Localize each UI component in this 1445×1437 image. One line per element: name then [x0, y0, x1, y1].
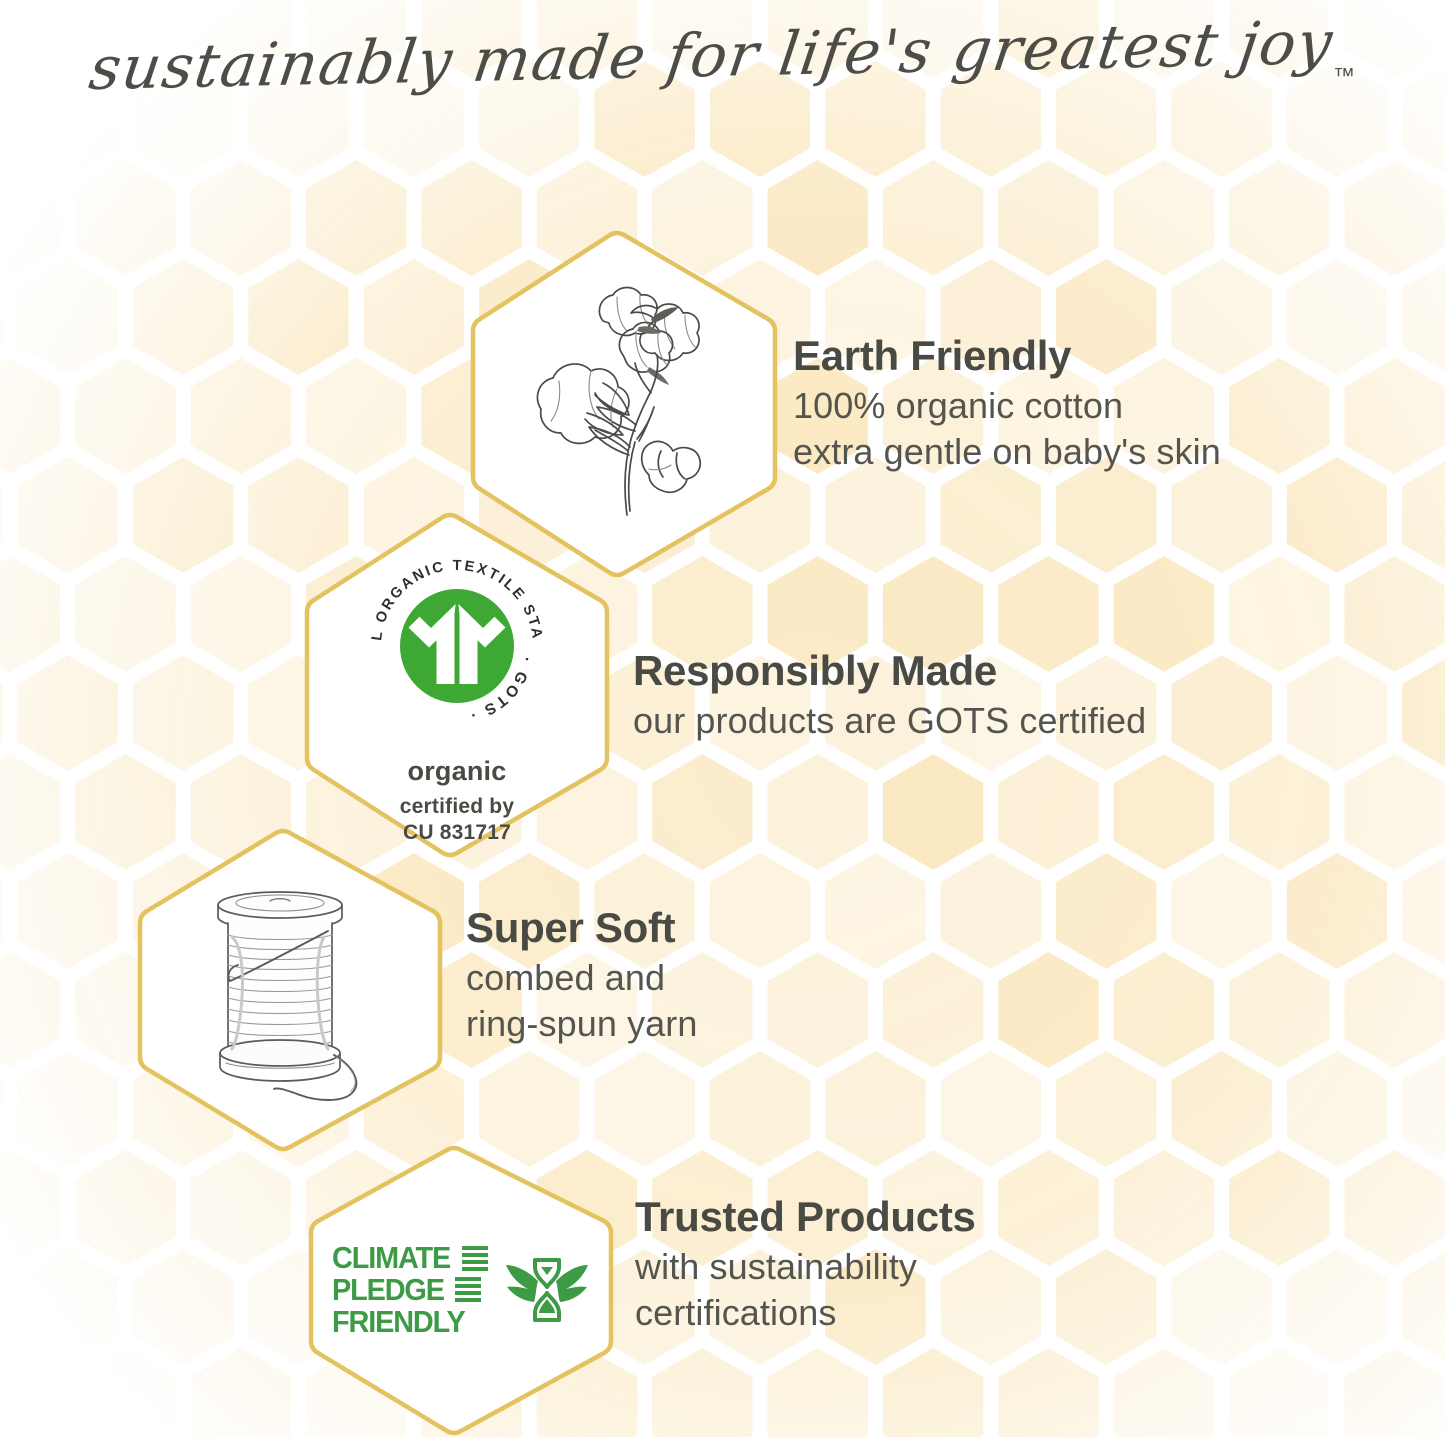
infographic-canvas: sustainably made for life's greatest joy… — [0, 0, 1445, 1437]
page-headline: sustainably made for life's greatest joy… — [0, 34, 1445, 104]
feature-title: Super Soft — [466, 905, 698, 951]
feature-hex-trusted-products: CLIMATE PLEDGE FRIENDLY — [305, 1145, 617, 1435]
cpf-bars-icon — [455, 1277, 481, 1303]
feature-title: Trusted Products — [635, 1194, 976, 1240]
feature-text-earth-friendly: Earth Friendly 100% organic cotton extra… — [793, 333, 1221, 475]
cpf-bars-icon — [462, 1245, 488, 1271]
cpf-line-2: PLEDGE — [332, 1274, 444, 1306]
feature-line: combed and — [466, 955, 698, 1001]
gots-organic-label: organic — [408, 756, 507, 787]
winged-hourglass-icon — [504, 1251, 590, 1329]
feature-line: 100% organic cotton — [793, 383, 1221, 429]
feature-hex-responsibly-made: GLOBAL ORGANIC TEXTILE STANDARD · GOTS ·… — [302, 512, 612, 858]
feature-line: certifications — [635, 1290, 976, 1336]
feature-text-trusted-products: Trusted Products with sustainability cer… — [635, 1194, 976, 1336]
climate-pledge-friendly-icon: CLIMATE PLEDGE FRIENDLY — [332, 1242, 589, 1338]
cotton-branch-sketch-icon — [499, 279, 749, 529]
feature-line: ring-spun yarn — [466, 1001, 698, 1047]
feature-line: our products are GOTS certified — [633, 698, 1146, 744]
cpf-line-1: CLIMATE — [332, 1242, 450, 1274]
thread-spool-sketch-icon — [170, 877, 410, 1103]
feature-title: Responsibly Made — [633, 648, 1146, 694]
feature-text-responsibly-made: Responsibly Made our products are GOTS c… — [633, 648, 1146, 744]
feature-text-super-soft: Super Soft combed and ring-spun yarn — [466, 905, 698, 1047]
headline-text: sustainably made for life's greatest joy — [85, 8, 1338, 104]
cpf-line-3: FRIENDLY — [332, 1306, 465, 1338]
gots-certified-by: certified by — [400, 794, 514, 820]
feature-title: Earth Friendly — [793, 333, 1221, 379]
feature-line: with sustainability — [635, 1244, 976, 1290]
trademark-symbol: ™ — [1333, 63, 1355, 89]
feature-hex-super-soft — [135, 828, 445, 1152]
feature-line: extra gentle on baby's skin — [793, 429, 1221, 475]
gots-certification-icon: GLOBAL ORGANIC TEXTILE STANDARD · GOTS ·… — [359, 548, 555, 845]
